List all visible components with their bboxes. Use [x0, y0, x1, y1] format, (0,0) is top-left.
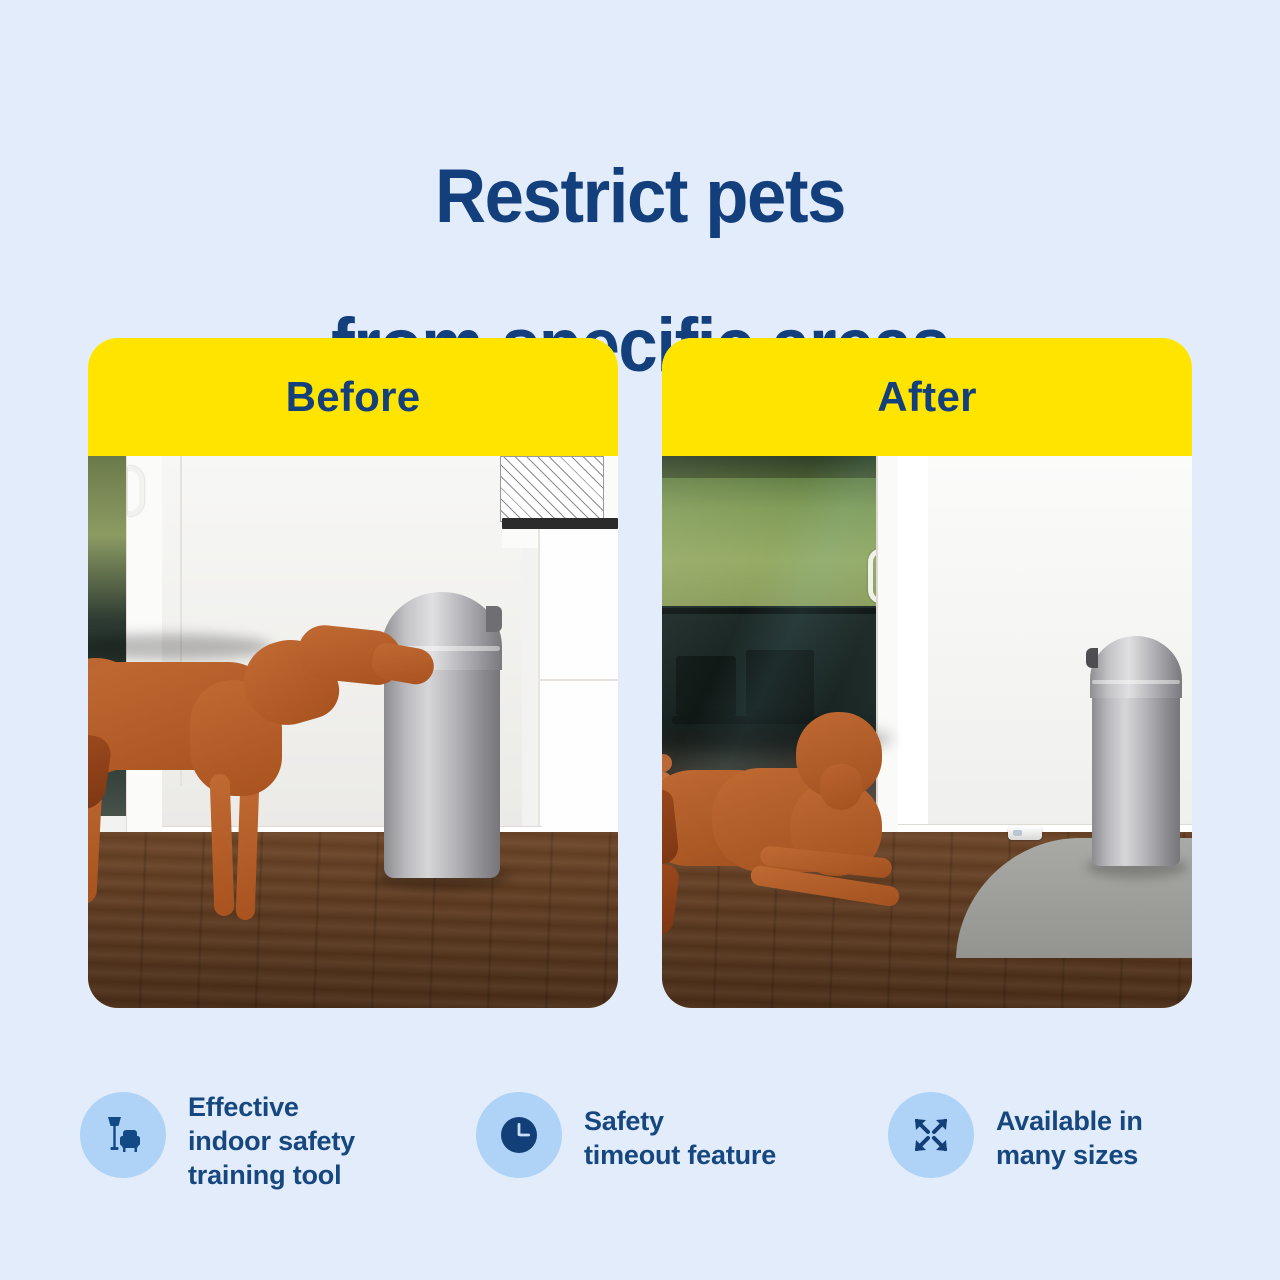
- dog-shadow-before: [88, 634, 272, 660]
- trash-can-body-after: [1092, 684, 1180, 866]
- card-banner-after: After: [662, 338, 1192, 456]
- transmitter-indicator: [1013, 830, 1022, 836]
- dog-ear-right-after: [662, 862, 680, 938]
- feature-item-many-sizes: Available in many sizes: [888, 1078, 1143, 1178]
- dog-after: [662, 724, 932, 954]
- card-banner-before: Before: [88, 338, 618, 456]
- page-title-line-1: Restrict pets: [45, 160, 1235, 234]
- feature-list: Effective indoor safety training tool Sa…: [80, 1078, 1210, 1208]
- trash-can-tab-after: [1086, 648, 1098, 668]
- banner-label-before: Before: [286, 373, 421, 421]
- comparison-card-after: After: [662, 338, 1192, 1008]
- dog-paw-b-after: [662, 754, 672, 772]
- cabinet-seam: [540, 679, 618, 681]
- feature-item-safety-timeout: Safety timeout feature: [476, 1078, 776, 1178]
- before-after-comparison: Before: [88, 338, 1192, 1008]
- dog-muzzle-after: [820, 764, 862, 810]
- feature-icon-circle-1: [80, 1092, 166, 1178]
- feature-item-indoor-training: Effective indoor safety training tool: [80, 1078, 355, 1192]
- door-handle-before: [128, 466, 144, 516]
- counter-edge: [502, 518, 618, 529]
- dog-front-leg-right: [236, 778, 260, 921]
- promo-page: Restrict pets from specific areas Before: [0, 0, 1280, 1280]
- feature-label-3: Available in many sizes: [996, 1078, 1143, 1172]
- feature-label-2: Safety timeout feature: [584, 1078, 776, 1172]
- clock-icon: [495, 1111, 543, 1159]
- expand-arrows-icon: [907, 1111, 955, 1159]
- feature-icon-circle-3: [888, 1092, 974, 1178]
- herringbone-backsplash: [500, 456, 604, 522]
- photo-after: [662, 456, 1192, 1008]
- feature-icon-circle-2: [476, 1092, 562, 1178]
- dog-before: [88, 634, 422, 964]
- transmitter-device: [1008, 826, 1042, 840]
- feature-label-1: Effective indoor safety training tool: [188, 1078, 355, 1192]
- trash-can-tab-before: [486, 606, 502, 632]
- trash-can-rim-after: [1092, 680, 1180, 684]
- lamp-armchair-icon: [99, 1111, 147, 1159]
- banner-label-after: After: [877, 373, 977, 421]
- comparison-card-before: Before: [88, 338, 618, 1008]
- photo-before: [88, 456, 618, 1008]
- kitchen-cabinet-before: [538, 529, 618, 839]
